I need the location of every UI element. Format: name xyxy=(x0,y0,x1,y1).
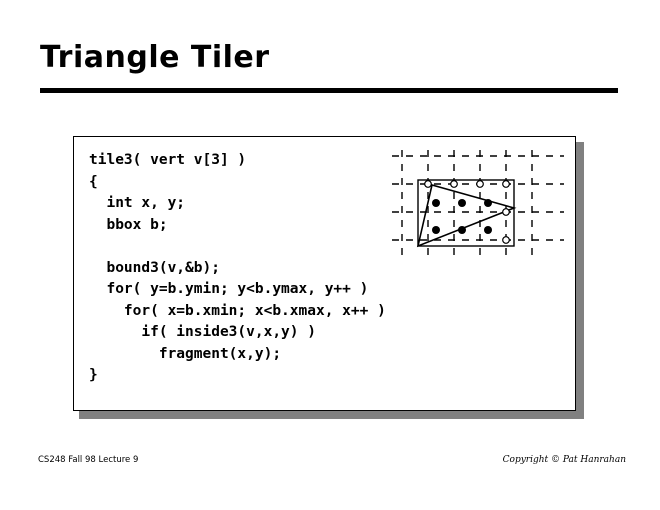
slide: Triangle Tiler tile3( vert v[3] ) { int … xyxy=(0,0,660,510)
sample-points-inside xyxy=(432,199,492,234)
code-listing: tile3( vert v[3] ) { int x, y; bbox b; b… xyxy=(89,150,386,387)
triangle-raster-diagram xyxy=(392,142,572,277)
title-divider xyxy=(40,88,618,93)
triangle-raster-svg xyxy=(392,142,572,277)
grid-vertical-lines xyxy=(402,150,532,260)
triangle-outline xyxy=(418,185,514,246)
footer-copyright: Copyright © Pat Hanrahan xyxy=(503,455,626,465)
footer-course-info: CS248 Fall 98 Lecture 9 xyxy=(38,455,138,465)
page-title: Triangle Tiler xyxy=(40,40,270,75)
